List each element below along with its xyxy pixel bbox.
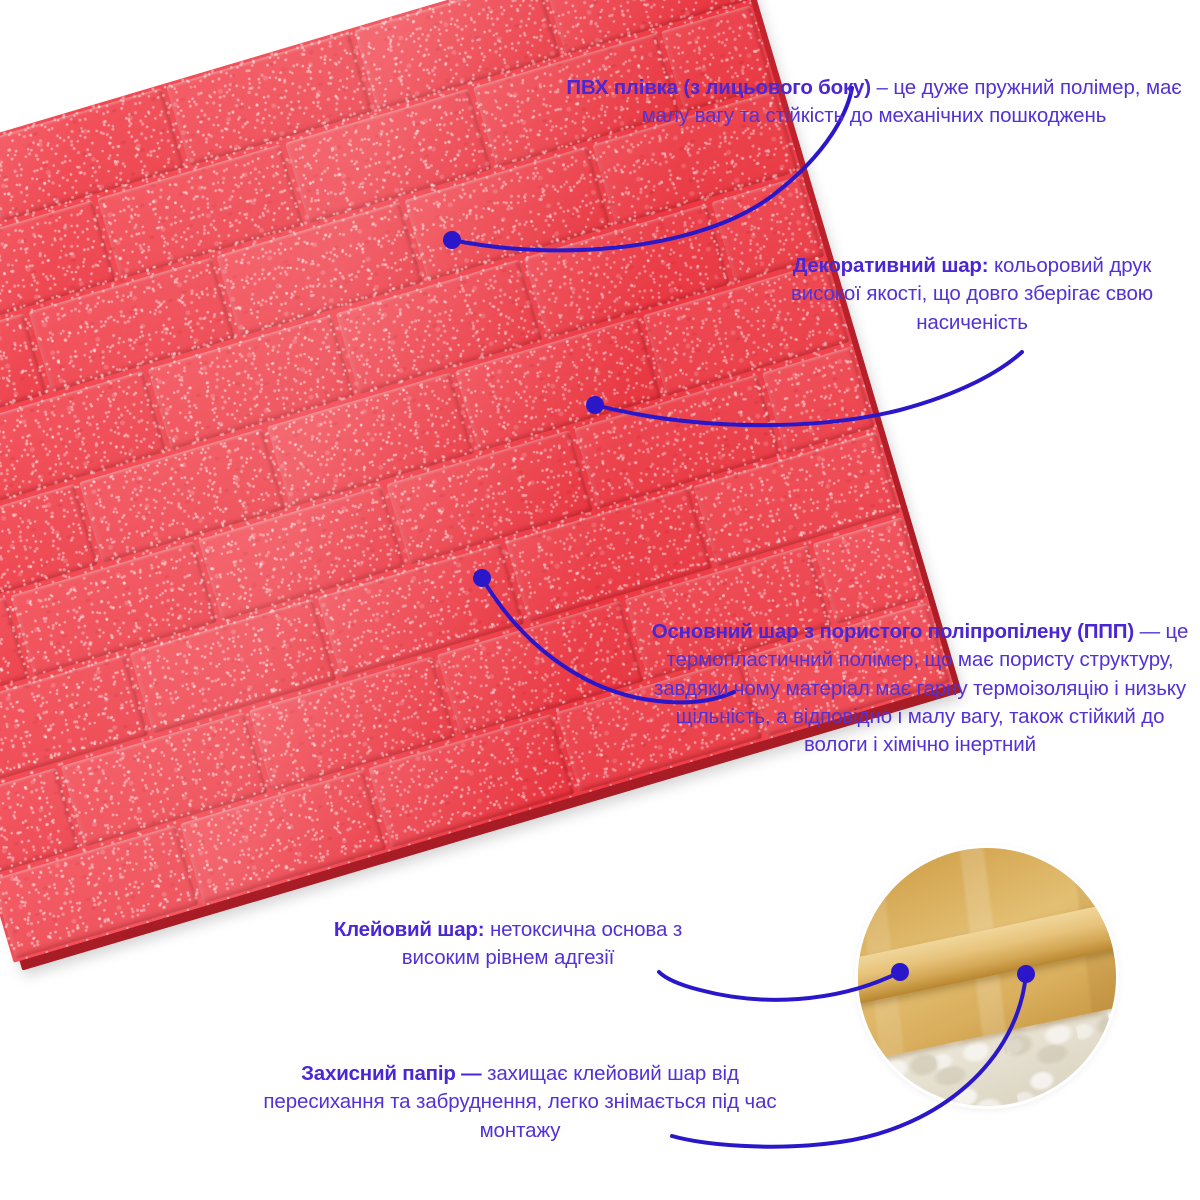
callout-text-glue: Клейовий шар: нетоксична основа з високи… [296, 916, 720, 973]
infographic-canvas: ПВХ плівка (з лицьового боку) – це дуже … [0, 0, 1200, 1200]
callout-text-pvc: ПВХ плівка (з лицьового боку) – це дуже … [566, 74, 1182, 131]
callout-heading-paper: Захисний папір — [301, 1062, 481, 1085]
callout-heading-ppp: Основний шар з пористого поліпропілену (… [652, 620, 1134, 643]
callout-text-paper: Захисний папір — захищає клейовий шар ві… [246, 1060, 794, 1145]
callout-text-decor: Декоративний шар: кольоровий друк високо… [762, 252, 1182, 337]
callout-text-ppp: Основний шар з пористого поліпропілену (… [648, 618, 1192, 759]
callout-heading-decor: Декоративний шар: [793, 254, 989, 277]
inset-photo-backing [858, 848, 1116, 1106]
panel-3d-brick [0, 0, 953, 963]
panel-gloss-sheen [0, 0, 953, 963]
panel-face [0, 0, 953, 963]
callout-heading-pvc: ПВХ плівка (з лицьового боку) [566, 76, 870, 99]
callout-heading-glue: Клейовий шар: [334, 918, 485, 941]
